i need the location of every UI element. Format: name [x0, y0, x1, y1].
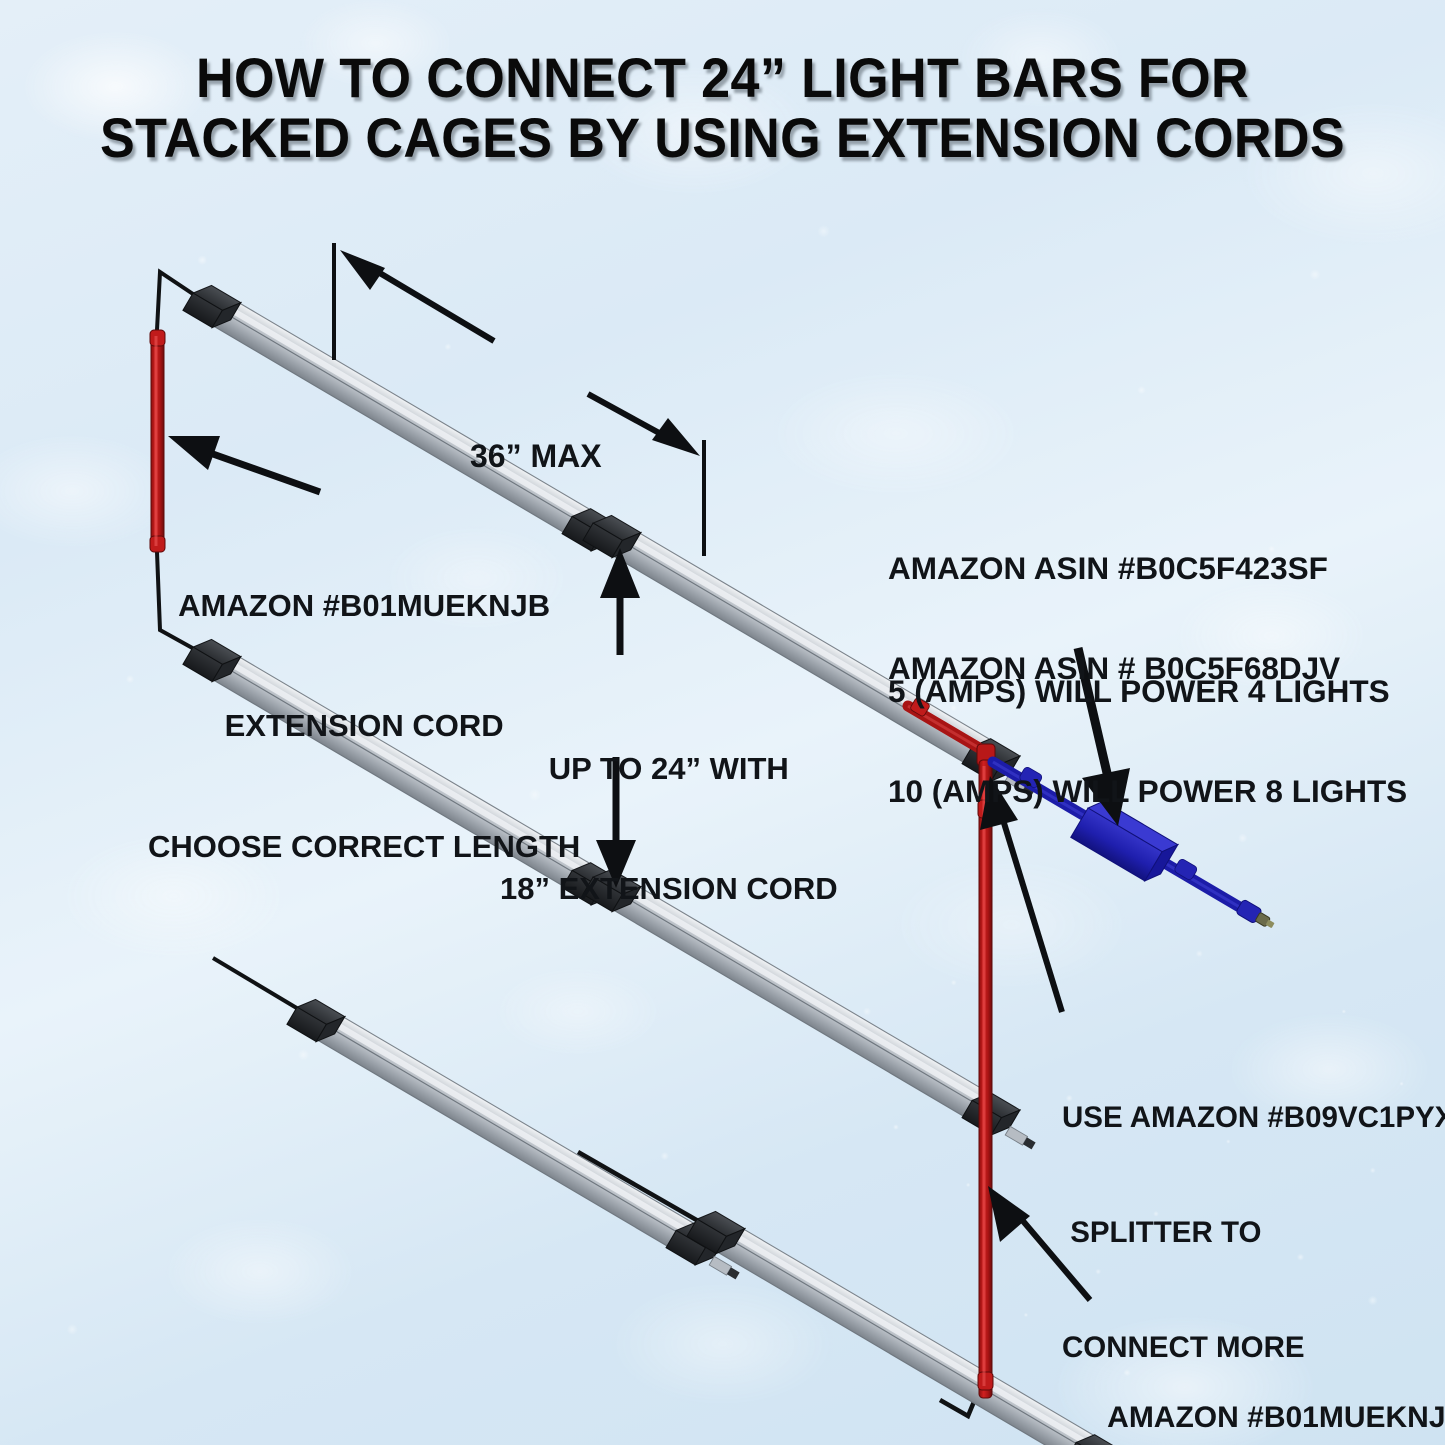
- annotation-line: 36” MAX: [470, 436, 602, 478]
- annotation-line: 18” EXTENSION CORD: [500, 869, 838, 909]
- annotation-line: AMAZON #B01MUEKNJB: [148, 586, 580, 626]
- annotation-line: SPLITTER TO: [1062, 1214, 1445, 1252]
- annotation-line: USE AMAZON #B09VC1PYXQ: [1062, 1099, 1445, 1137]
- infographic-canvas: HOW TO CONNECT 24” LIGHT BARS FOR STACKE…: [0, 0, 1445, 1445]
- annotation-line: UP TO 24” WITH: [500, 749, 838, 789]
- light-bar-5: [287, 993, 750, 1286]
- annotation-dimension-36-max: 36” MAX: [470, 353, 602, 561]
- annotation-mid-extension: UP TO 24” WITH 18” EXTENSION CORD: [500, 668, 838, 990]
- annotation-line: AMAZON ASIN # B0C5F68DJV: [888, 648, 1407, 689]
- annotation-asin-10amp: AMAZON ASIN # B0C5F68DJV 10 (AMPS) WILL …: [888, 566, 1407, 894]
- annotation-bottom-extension-cord: AMAZON #B01MUEKNJB EXTENSION CORD CHOOSE…: [1078, 1320, 1445, 1445]
- annotation-line: 10 (AMPS) WILL POWER 8 LIGHTS: [888, 771, 1407, 812]
- annotation-line: AMAZON #B01MUEKNJB: [1078, 1398, 1445, 1437]
